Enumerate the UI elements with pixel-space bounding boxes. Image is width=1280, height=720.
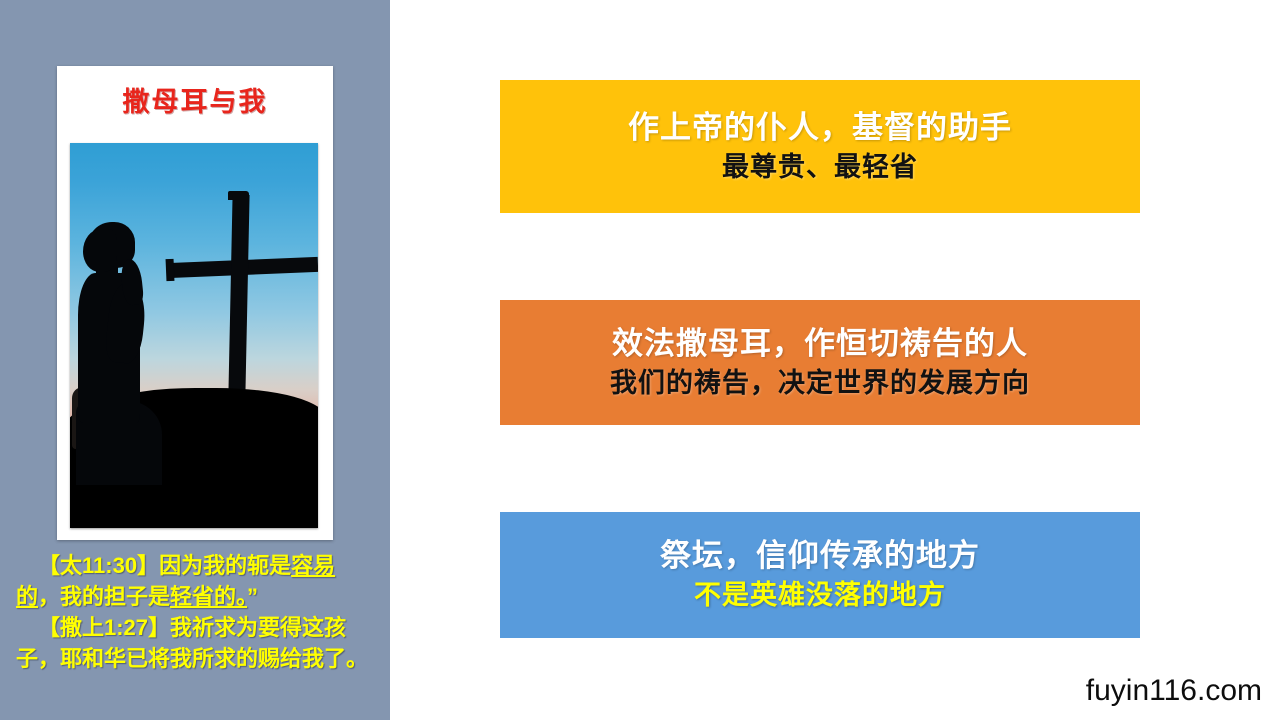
banner-follow-samuel-prayer: 效法撒母耳，作恒切祷告的人 我们的祷告，决定世界的发展方向 [500, 300, 1140, 425]
banner-3-line-2: 不是英雄没落的地方 [694, 576, 946, 614]
banner-1-line-2: 最尊贵、最轻省 [722, 148, 918, 186]
banner-3-line-1: 祭坛，信仰传承的地方 [660, 536, 980, 576]
scripture-verse-2: 【撒上1:27】我祈求为要得这孩子，耶和华已将我所求的赐给我了。 [16, 612, 378, 674]
card-title: 撒母耳与我 [57, 80, 333, 119]
banner-2-line-2: 我们的祷告，决定世界的发展方向 [610, 364, 1030, 402]
cross-beam-end [166, 259, 175, 281]
title-card: 撒母耳与我 [57, 66, 333, 540]
verse-1-ref: 【太11:30】 [38, 553, 159, 578]
photo-top-strip [70, 143, 318, 150]
verse-2-ref: 【撒上1:27】 [38, 615, 170, 640]
verse-1-part-4: 轻省的。 [170, 584, 247, 609]
scripture-verse-1: 【太11:30】因为我的轭是容易的，我的担子是轻省的。” [16, 550, 378, 612]
verse-1-part-1: 因为我的轭是 [159, 553, 291, 578]
banner-servant-of-god: 作上帝的仆人，基督的助手 最尊贵、最轻省 [500, 80, 1140, 213]
praying-silhouette-with-cross-image [70, 143, 318, 528]
banner-1-line-1: 作上帝的仆人，基督的助手 [628, 108, 1012, 148]
site-watermark: fuyin116.com [1086, 674, 1262, 708]
verse-1-part-3: ，我的担子是 [38, 584, 170, 609]
banner-2-line-1: 效法撒母耳，作恒切祷告的人 [612, 324, 1028, 364]
banner-altar-faith-heritage: 祭坛，信仰传承的地方 不是英雄没落的地方 [500, 512, 1140, 638]
verse-1-part-5: ” [247, 584, 258, 609]
sidebar-panel: 撒母耳与我 【太11:30】因为我的轭是容易的， [0, 0, 390, 720]
content-panel: 作上帝的仆人，基督的助手 最尊贵、最轻省 效法撒母耳，作恒切祷告的人 我们的祷告… [390, 0, 1280, 720]
slide-canvas: 撒母耳与我 【太11:30】因为我的轭是容易的， [0, 0, 1280, 720]
scripture-text-block: 【太11:30】因为我的轭是容易的，我的担子是轻省的。” 【撒上1:27】我祈求… [16, 550, 378, 674]
person-hair [83, 229, 117, 272]
